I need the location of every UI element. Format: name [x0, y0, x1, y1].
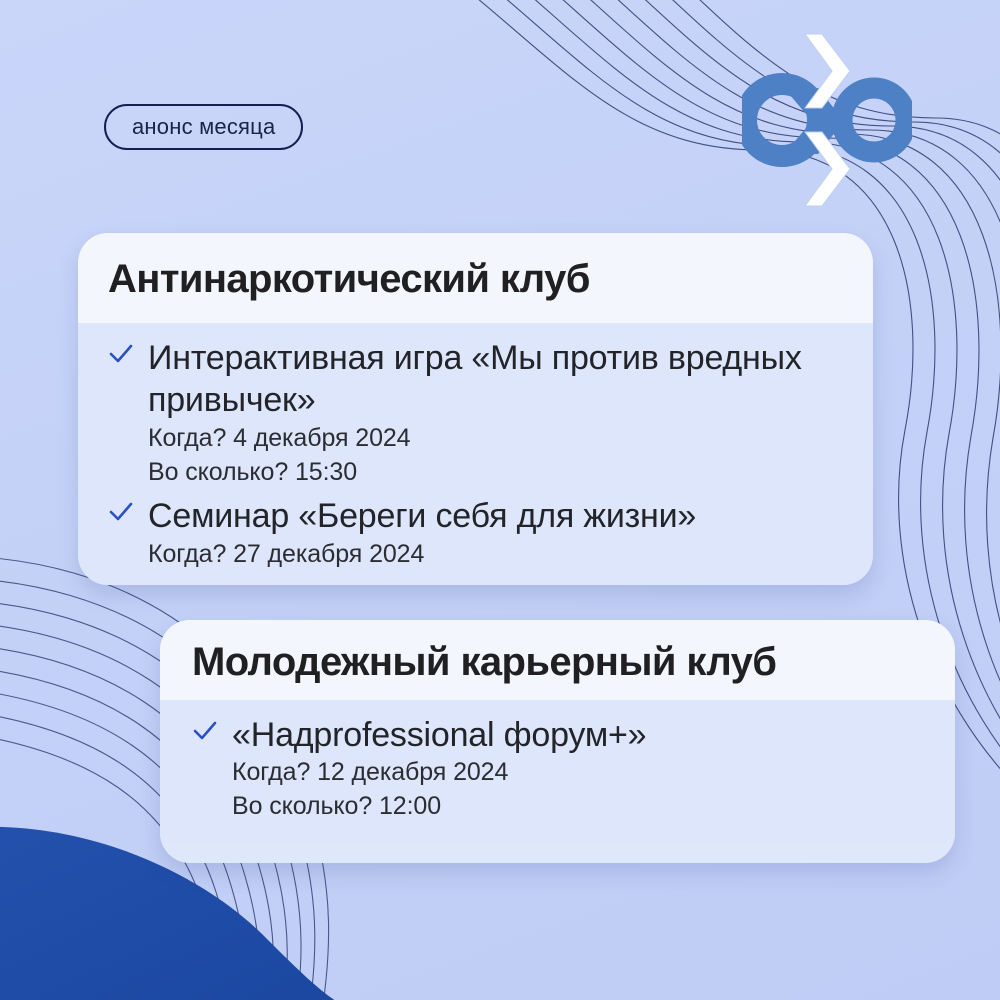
club-card-antinarcotic: Антинаркотический клуб Интерактивная игр… — [78, 233, 873, 585]
event-name: Семинар «Береги себя для жизни» — [148, 495, 843, 538]
club-card-youth-career: Молодежный карьерный клуб «Надprofession… — [160, 620, 955, 863]
card-body: Интерактивная игра «Мы против вредных пр… — [78, 323, 873, 585]
event-meta-time: Во сколько? 12:00 — [232, 790, 925, 823]
card-body: «Надprofessional форум+» Когда? 12 декаб… — [160, 700, 955, 843]
card-title: Антинаркотический клуб — [108, 257, 843, 303]
check-icon — [108, 499, 134, 533]
announcement-badge: анонс месяца — [104, 104, 303, 150]
event-item: Интерактивная игра «Мы против вредных пр… — [108, 337, 843, 489]
logo-ring-right — [842, 88, 906, 152]
event-meta-time: Во сколько? 15:30 — [148, 456, 843, 489]
event-item: Семинар «Береги себя для жизни» Когда? 2… — [108, 495, 843, 571]
card-title: Молодежный карьерный клуб — [192, 640, 925, 686]
event-name: «Надprofessional форум+» — [232, 714, 925, 757]
card-header: Молодежный карьерный клуб — [160, 620, 955, 700]
event-text: «Надprofessional форум+» Когда? 12 декаб… — [232, 714, 925, 823]
event-name: Интерактивная игра «Мы против вредных пр… — [148, 337, 843, 423]
event-meta-date: Когда? 12 декабря 2024 — [232, 756, 925, 789]
oko-logo — [742, 28, 912, 213]
event-meta-date: Когда? 4 декабря 2024 — [148, 422, 843, 455]
event-text: Интерактивная игра «Мы против вредных пр… — [148, 337, 843, 489]
card-header: Антинаркотический клуб — [78, 233, 873, 323]
check-icon — [108, 341, 134, 375]
event-meta-date: Когда? 27 декабря 2024 — [148, 538, 843, 571]
check-icon — [192, 718, 218, 752]
event-text: Семинар «Береги себя для жизни» Когда? 2… — [148, 495, 843, 571]
event-item: «Надprofessional форум+» Когда? 12 декаб… — [192, 714, 925, 823]
poster-canvas: анонс месяца Антинаркотический клуб — [0, 0, 1000, 1000]
